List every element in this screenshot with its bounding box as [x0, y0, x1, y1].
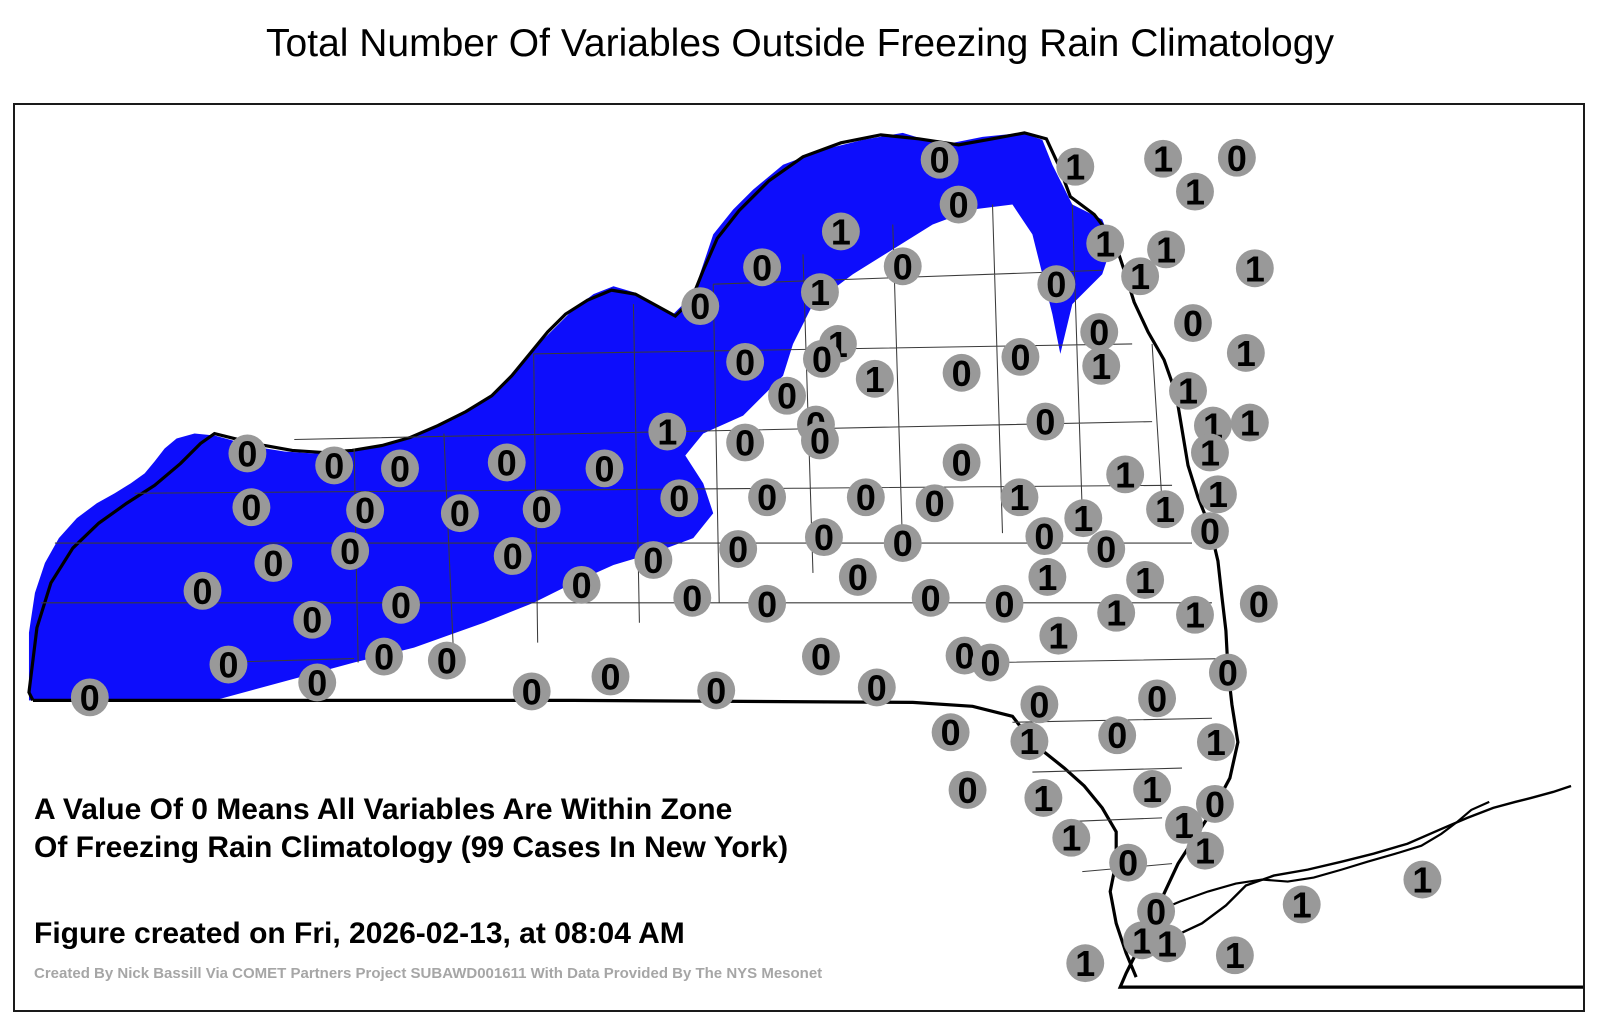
station-marker-value: 1: [1195, 832, 1215, 872]
station-marker-value: 0: [503, 537, 523, 577]
station-marker[interactable]: 0: [972, 644, 1010, 684]
station-marker[interactable]: 0: [943, 443, 981, 483]
station-marker[interactable]: 0: [71, 678, 109, 718]
station-marker-value: 0: [690, 287, 710, 327]
station-marker[interactable]: 0: [365, 638, 403, 678]
station-markers-layer: 0110101110001110000101001101000011100000…: [71, 139, 1442, 984]
station-marker[interactable]: 0: [1087, 530, 1125, 570]
station-marker-value: 1: [1115, 455, 1135, 495]
station-marker-value: 0: [682, 579, 702, 619]
station-marker-value: 1: [1236, 334, 1256, 374]
station-marker[interactable]: 0: [801, 422, 839, 462]
station-marker[interactable]: 0: [802, 638, 840, 678]
station-marker[interactable]: 1: [1283, 885, 1321, 925]
station-marker-value: 0: [735, 343, 755, 383]
station-marker-value: 0: [1227, 139, 1247, 179]
station-marker[interactable]: 1: [1236, 249, 1274, 289]
station-marker-value: 0: [241, 488, 261, 528]
station-marker-value: 0: [777, 377, 797, 417]
station-marker[interactable]: 1: [1144, 140, 1182, 180]
station-marker-value: 1: [1065, 148, 1085, 188]
station-marker[interactable]: 1: [1176, 173, 1214, 213]
station-marker-value: 0: [1218, 654, 1238, 694]
station-marker-value: 0: [374, 638, 394, 678]
station-marker-value: 1: [1095, 224, 1115, 264]
station-marker-value: 0: [80, 678, 100, 718]
station-marker[interactable]: 0: [748, 585, 786, 625]
station-marker-value: 1: [1185, 173, 1205, 213]
station-marker[interactable]: 0: [805, 518, 843, 558]
station-marker[interactable]: 0: [673, 579, 711, 619]
station-marker[interactable]: 0: [884, 247, 922, 287]
station-marker-value: 1: [1135, 561, 1155, 601]
station-marker-value: 0: [497, 443, 517, 483]
station-marker-value: 0: [941, 713, 961, 753]
station-marker[interactable]: 0: [986, 585, 1024, 625]
station-marker-value: 0: [1118, 844, 1138, 884]
station-marker[interactable]: 0: [513, 672, 551, 712]
station-marker-value: 1: [1200, 433, 1220, 473]
station-marker-value: 1: [1009, 478, 1029, 518]
station-marker-value: 0: [390, 449, 410, 489]
station-marker-value: 0: [1046, 265, 1066, 305]
station-marker[interactable]: 0: [1240, 585, 1278, 625]
station-marker-value: 0: [867, 668, 887, 708]
station-marker[interactable]: 0: [932, 713, 970, 753]
station-marker-value: 0: [893, 524, 913, 564]
station-marker-value: 1: [1091, 347, 1111, 387]
station-marker[interactable]: 0: [726, 424, 764, 464]
station-marker[interactable]: 1: [1169, 372, 1207, 412]
station-marker[interactable]: 0: [839, 558, 877, 598]
station-marker[interactable]: 1: [1146, 490, 1184, 530]
station-marker-value: 1: [1130, 257, 1150, 297]
station-marker-value: 0: [669, 479, 689, 519]
station-marker[interactable]: 0: [1025, 517, 1063, 557]
station-marker-value: 1: [1037, 558, 1057, 598]
station-marker-value: 1: [657, 413, 677, 453]
station-marker-value: 0: [921, 579, 941, 619]
station-marker-value: 1: [1178, 372, 1198, 412]
station-marker-value: 1: [1019, 722, 1039, 762]
station-marker-value: 0: [1183, 304, 1203, 344]
station-marker[interactable]: 0: [1209, 654, 1247, 694]
station-marker-value: 1: [1245, 249, 1265, 289]
station-marker[interactable]: 0: [1218, 139, 1256, 179]
station-marker-value: 0: [994, 585, 1014, 625]
station-marker-value: 1: [1061, 819, 1081, 859]
station-marker[interactable]: 1: [1039, 617, 1077, 657]
station-marker-value: 0: [263, 544, 283, 584]
station-marker-value: 0: [925, 484, 945, 524]
station-marker-value: 0: [1200, 512, 1220, 552]
station-marker-value: 0: [752, 248, 772, 288]
station-marker[interactable]: 1: [1133, 770, 1171, 810]
station-marker-value: 0: [450, 494, 470, 534]
station-marker-value: 1: [1240, 404, 1260, 444]
station-marker[interactable]: 1: [1000, 478, 1038, 518]
station-marker[interactable]: 1: [1148, 924, 1186, 964]
station-marker[interactable]: 0: [1191, 512, 1229, 552]
station-marker-value: 0: [355, 491, 375, 531]
station-marker[interactable]: 1: [1052, 819, 1090, 859]
station-marker[interactable]: 0: [1020, 685, 1058, 725]
station-marker-value: 0: [981, 644, 1001, 684]
station-marker-value: 0: [728, 530, 748, 570]
station-marker-value: 0: [757, 585, 777, 625]
station-marker-value: 0: [302, 601, 322, 641]
station-marker-value: 1: [1075, 944, 1095, 984]
station-marker-value: 0: [572, 566, 592, 606]
station-marker[interactable]: 0: [916, 484, 954, 524]
station-marker[interactable]: 1: [1121, 257, 1159, 297]
station-marker-value: 0: [812, 340, 832, 380]
station-marker[interactable]: 0: [1174, 304, 1212, 344]
station-marker-value: 0: [1096, 530, 1116, 570]
station-marker-value: 0: [391, 586, 411, 626]
station-marker-value: 1: [1142, 770, 1162, 810]
map-canvas: 0110101110001110000101001101000011100000…: [15, 105, 1583, 1010]
station-marker[interactable]: 1: [1176, 596, 1214, 636]
station-marker-value: 0: [955, 637, 975, 677]
station-marker[interactable]: 1: [1028, 558, 1066, 598]
station-marker-value: 0: [193, 572, 213, 612]
station-marker[interactable]: 0: [634, 541, 672, 581]
station-marker-value: 0: [532, 490, 552, 530]
station-marker[interactable]: 0: [768, 377, 806, 417]
map-panel: 0110101110001110000101001101000011100000…: [13, 103, 1585, 1012]
station-marker-value: 0: [437, 642, 457, 682]
station-marker[interactable]: 1: [1403, 861, 1441, 901]
station-marker-value: 0: [952, 354, 972, 394]
station-marker-value: 1: [1048, 617, 1068, 657]
station-marker[interactable]: 0: [847, 478, 885, 518]
station-marker-value: 1: [1153, 140, 1173, 180]
station-marker-value: 0: [1147, 679, 1167, 719]
station-marker-value: 1: [1185, 596, 1205, 636]
station-marker[interactable]: 1: [1199, 475, 1237, 515]
station-marker[interactable]: 0: [1026, 403, 1064, 443]
station-marker-value: 0: [643, 541, 663, 581]
station-marker[interactable]: 0: [949, 771, 987, 811]
station-marker[interactable]: 0: [1138, 679, 1176, 719]
station-marker-value: 0: [757, 478, 777, 518]
station-marker[interactable]: 1: [1010, 722, 1048, 762]
station-marker[interactable]: 1: [1126, 561, 1164, 601]
station-marker-value: 0: [814, 518, 834, 558]
station-marker-value: 1: [1412, 861, 1432, 901]
station-marker-value: 0: [1035, 403, 1055, 443]
station-marker-value: 0: [600, 657, 620, 697]
station-marker[interactable]: 0: [1001, 338, 1039, 378]
station-marker-value: 1: [1292, 885, 1312, 925]
station-marker[interactable]: 0: [1109, 844, 1147, 884]
station-marker-value: 0: [595, 449, 615, 489]
station-marker-value: 1: [1208, 475, 1228, 515]
station-marker-value: 0: [237, 434, 257, 474]
station-marker-value: 0: [307, 663, 327, 703]
station-marker-value: 1: [1157, 924, 1177, 964]
station-marker-value: 0: [1107, 716, 1127, 756]
station-marker-value: 0: [1034, 517, 1054, 557]
station-marker-value: 1: [1156, 230, 1176, 270]
station-marker[interactable]: 0: [912, 579, 950, 619]
station-marker[interactable]: 0: [943, 354, 981, 394]
station-marker-value: 0: [811, 638, 831, 678]
station-marker-value: 1: [1106, 594, 1126, 634]
state-outline-south: [33, 700, 1136, 977]
station-marker[interactable]: 0: [563, 566, 601, 606]
station-marker[interactable]: 1: [1227, 334, 1265, 374]
station-marker-value: 1: [1155, 490, 1175, 530]
station-marker-value: 0: [810, 422, 830, 462]
station-marker-value: 0: [893, 247, 913, 287]
station-marker[interactable]: 0: [697, 671, 735, 711]
station-marker[interactable]: 1: [1186, 832, 1224, 872]
page-title: Total Number Of Variables Outside Freezi…: [0, 22, 1600, 66]
station-marker-value: 1: [1225, 936, 1245, 976]
station-marker[interactable]: 1: [856, 360, 894, 400]
station-marker[interactable]: 1: [1106, 455, 1144, 495]
station-marker-value: 0: [1205, 785, 1225, 825]
station-marker[interactable]: 0: [298, 663, 336, 703]
station-marker[interactable]: 1: [1097, 594, 1135, 634]
station-marker-value: 0: [735, 424, 755, 464]
station-marker[interactable]: 1: [1056, 148, 1094, 188]
station-marker[interactable]: 1: [1082, 347, 1120, 387]
station-marker-value: 1: [810, 273, 830, 313]
station-marker-value: 0: [324, 446, 344, 486]
station-marker[interactable]: 1: [1197, 723, 1235, 763]
station-marker[interactable]: 0: [884, 524, 922, 564]
station-marker[interactable]: 1: [1024, 779, 1062, 819]
station-marker-value: 1: [865, 360, 885, 400]
station-marker-value: 0: [1010, 338, 1030, 378]
station-marker[interactable]: 0: [1098, 716, 1136, 756]
station-marker[interactable]: 1: [1216, 936, 1254, 976]
station-marker-value: 1: [1206, 723, 1226, 763]
station-marker[interactable]: 0: [803, 340, 841, 380]
station-marker-value: 0: [218, 646, 238, 686]
station-marker[interactable]: 1: [1231, 404, 1269, 444]
station-marker-value: 0: [930, 141, 950, 181]
station-marker-value: 0: [522, 672, 542, 712]
station-marker[interactable]: 0: [748, 478, 786, 518]
station-marker[interactable]: 0: [592, 657, 630, 697]
station-marker-value: 1: [1073, 499, 1093, 539]
figure-root: Total Number Of Variables Outside Freezi…: [0, 0, 1600, 1020]
station-marker[interactable]: 1: [1191, 433, 1229, 473]
station-marker-value: 1: [831, 212, 851, 252]
station-marker-value: 0: [958, 771, 978, 811]
station-marker-value: 0: [952, 443, 972, 483]
station-marker-value: 0: [848, 558, 868, 598]
station-marker-value: 0: [856, 478, 876, 518]
station-marker[interactable]: 1: [1066, 944, 1104, 984]
station-marker-value: 0: [706, 671, 726, 711]
station-marker-value: 1: [1033, 779, 1053, 819]
station-marker-value: 0: [1249, 585, 1269, 625]
station-marker-value: 0: [340, 532, 360, 572]
station-marker-value: 0: [949, 186, 969, 226]
station-marker[interactable]: 0: [428, 642, 466, 682]
station-marker[interactable]: 0: [719, 530, 757, 570]
station-marker-value: 0: [1029, 685, 1049, 725]
